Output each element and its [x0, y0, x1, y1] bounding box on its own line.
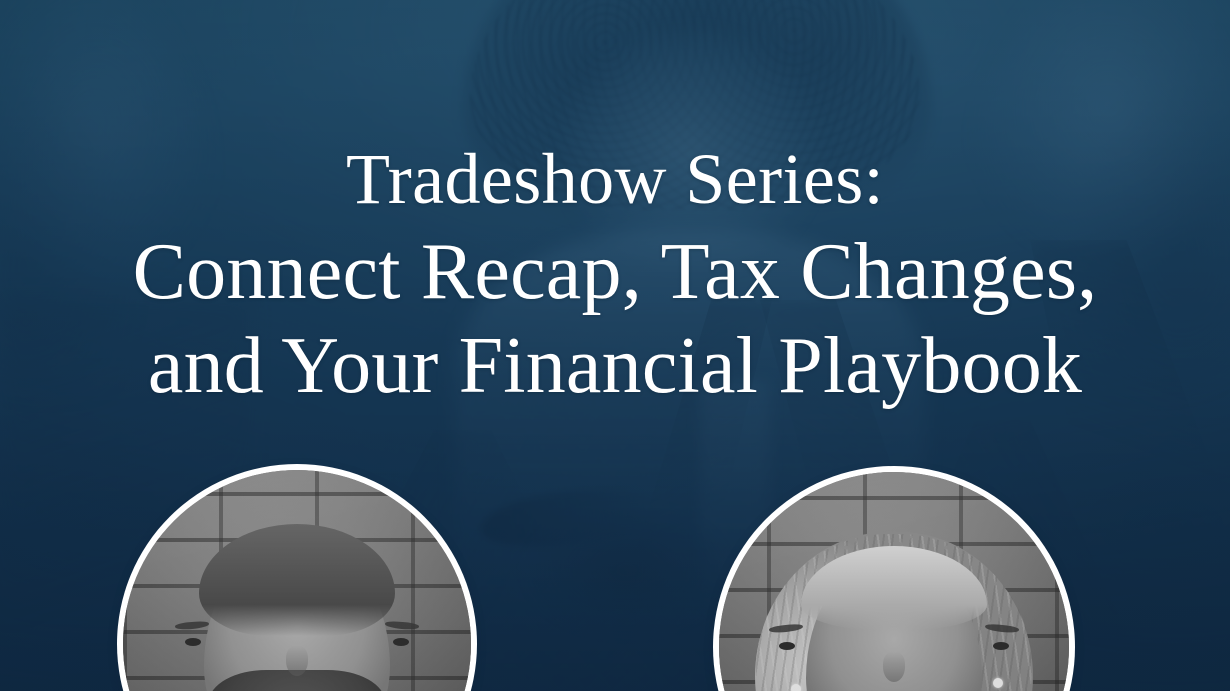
title-slide: Tradeshow Series: Connect Recap, Tax Cha… [0, 0, 1230, 691]
speaker-left-eye-right [393, 638, 409, 646]
speaker-left-brow-left [175, 621, 209, 631]
speaker-avatar-right [719, 472, 1069, 691]
speaker-left-hair [199, 524, 395, 636]
title-line-1: Tradeshow Series: [14, 133, 1216, 225]
speaker-left-nose [286, 646, 308, 676]
speaker-left-eye-left [185, 638, 201, 646]
speaker-right-face [719, 472, 1069, 691]
speaker-left-brow-right [385, 621, 419, 631]
speaker-right-earring-right [993, 678, 1003, 688]
speaker-right-earring-left [791, 684, 801, 691]
title-line-2: Connect Recap, Tax Changes, [14, 225, 1216, 319]
speaker-left-face [123, 470, 471, 691]
speaker-right-eye-left [779, 642, 795, 650]
speaker-right-eye-right [993, 642, 1009, 650]
page-title: Tradeshow Series: Connect Recap, Tax Cha… [0, 133, 1230, 413]
speaker-right-nose [883, 652, 905, 682]
speaker-avatar-left [123, 470, 471, 691]
title-line-3: and Your Financial Playbook [14, 319, 1216, 413]
